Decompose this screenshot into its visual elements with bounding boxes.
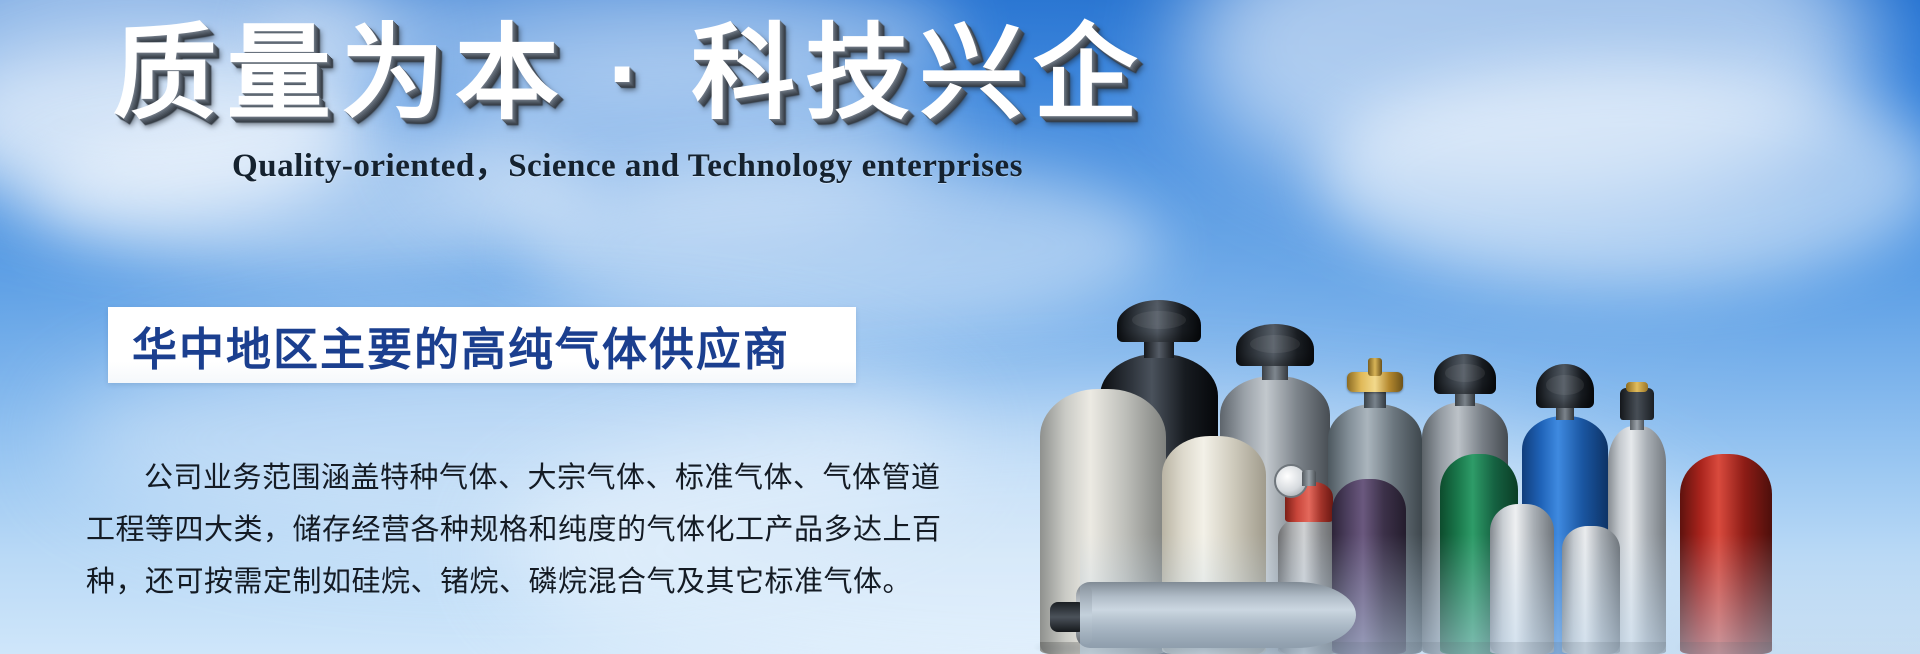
description-paragraph: 公司业务范围涵盖特种气体、大宗气体、标准气体、气体管道 工程等四大类，储存经营各… [86, 452, 886, 608]
paragraph-line-3: 种，还可按需定制如硅烷、锗烷、磷烷混合气及其它标准气体。 [86, 556, 886, 608]
headline-block: 质量为本 · 科技兴企 [0, 18, 1260, 130]
black-cylinder-valve-guard [1117, 300, 1201, 342]
gas-cylinder-group [1150, 0, 1920, 654]
promo-banner: 质量为本 · 科技兴企 Quality-oriented，Science and… [0, 0, 1920, 654]
valve-stem [1368, 358, 1382, 376]
paragraph-line-1: 公司业务范围涵盖特种气体、大宗气体、标准气体、气体管道 [86, 452, 886, 504]
horizontal-cylinder [1050, 576, 1380, 654]
slogan-bar: 华中地区主要的高纯气体供应商 [108, 307, 856, 383]
subheadline-text: Quality-oriented，Science and Technology … [0, 138, 1255, 186]
blue-cylinder-valve-guard [1536, 364, 1594, 408]
grey-cylinder-valve-guard [1236, 324, 1314, 366]
horizontal-cylinder-body [1076, 582, 1356, 648]
aluminium-valve-knob [1626, 382, 1648, 392]
small-aluminium-bottle-2 [1562, 526, 1620, 654]
aluminium-valve-cap [1620, 388, 1654, 420]
headline-text: 质量为本 · 科技兴企 [113, 18, 1147, 130]
horizontal-cylinder-collar [1080, 586, 1092, 644]
dark-red-cylinder [1680, 454, 1772, 654]
slogan-text: 华中地区主要的高纯气体供应商 [108, 313, 790, 378]
grey-mid-valve-guard [1434, 354, 1496, 394]
small-aluminium-bottle [1490, 504, 1554, 654]
paragraph-line-2: 工程等四大类，储存经营各种规格和纯度的气体化工产品多达上百 [86, 504, 886, 556]
